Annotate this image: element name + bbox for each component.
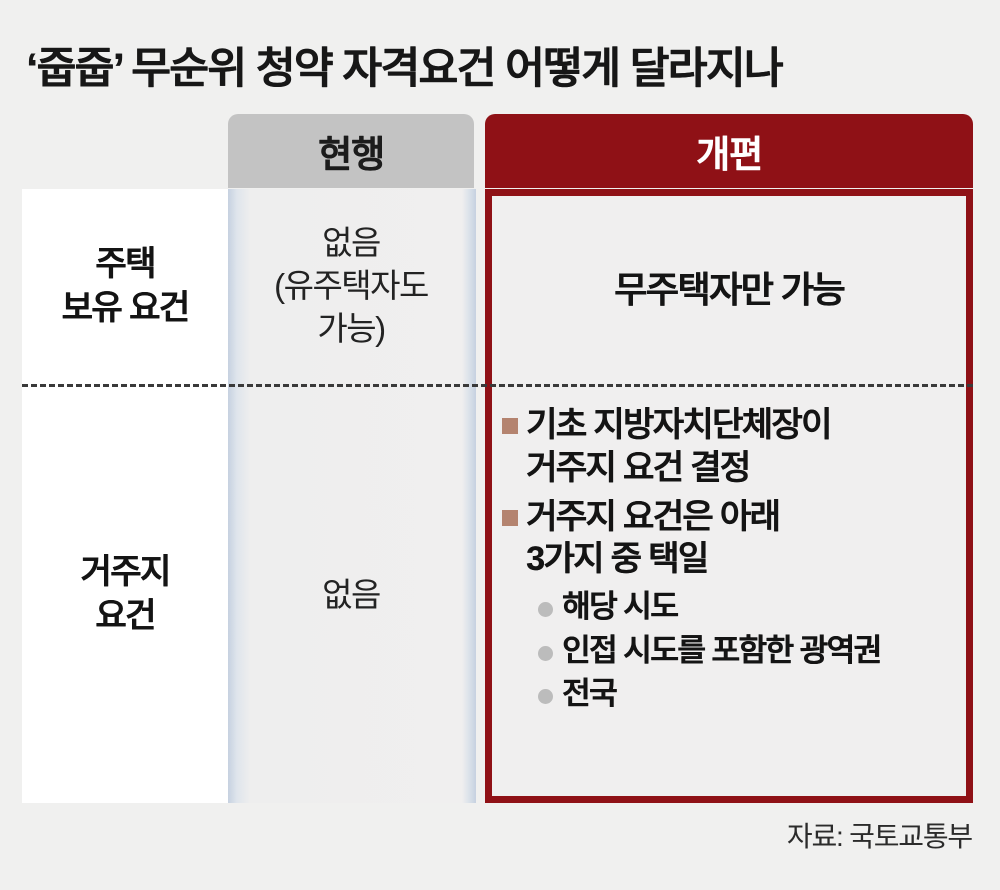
- reform-sub-bullet-list: 해당 시도 인접 시도를 포함한 광역권 전국: [502, 587, 960, 714]
- reform-value-text: 무주택자만 가능: [614, 261, 844, 313]
- square-bullet-icon: [502, 510, 518, 526]
- reform-bullet-line-1: 거주지 요건은 아래: [526, 498, 779, 536]
- column-header-current: 현행: [228, 114, 474, 188]
- reform-sub-bullet-text: 전국: [562, 674, 616, 714]
- current-value-line-1: 없음: [322, 574, 380, 617]
- column-header-reform-label: 개편: [696, 124, 762, 178]
- current-value-line-1: 없음: [322, 222, 380, 265]
- row-label-line-1: 주택: [95, 243, 155, 287]
- reform-sub-bullet-item: 전국: [538, 674, 960, 714]
- reform-bullet-line-2: 3가지 중 택일: [526, 540, 707, 578]
- row-label-housing-ownership: 주택 보유 요건: [22, 189, 228, 384]
- current-value-residency: 없음: [228, 387, 474, 803]
- reform-bullet-item: 거주지 요건은 아래 3가지 중 택일: [502, 496, 960, 582]
- row-label-line-2: 보유 요건: [61, 287, 188, 331]
- current-value-line-3: 가능): [317, 308, 384, 351]
- reform-sub-bullet-item: 인접 시도를 포함한 광역권: [538, 631, 960, 671]
- round-bullet-icon: [538, 646, 553, 661]
- current-value-housing-ownership: 없음 (유주택자도 가능): [228, 189, 474, 384]
- reform-sub-bullet-text: 인접 시도를 포함한 광역권: [562, 631, 881, 671]
- column-header-current-label: 현행: [318, 124, 384, 178]
- reform-sub-bullet-text: 해당 시도: [562, 587, 677, 627]
- row-label-line-2: 요건: [95, 595, 155, 639]
- reform-value-residency: 기초 지방자치단체장이 거주지 요건 결정 거주지 요건은 아래 3가지 중 택…: [492, 390, 966, 800]
- reform-bullet-line-2: 거주지 요건 결정: [526, 449, 749, 487]
- reform-bullet-text: 기초 지방자치단체장이 거주지 요건 결정: [526, 404, 831, 490]
- square-bullet-icon: [502, 418, 518, 434]
- reform-bullet-item: 기초 지방자치단체장이 거주지 요건 결정: [502, 404, 960, 490]
- round-bullet-icon: [538, 689, 553, 704]
- row-label-residency: 거주지 요건: [22, 387, 228, 803]
- source-note: 자료: 국토교통부: [787, 815, 972, 855]
- current-value-line-2: (유주택자도: [274, 265, 428, 308]
- row-label-line-1: 거주지: [80, 551, 169, 595]
- reform-bullet-line-1: 기초 지방자치단체장이: [526, 406, 831, 444]
- reform-sub-bullet-item: 해당 시도: [538, 587, 960, 627]
- column-header-reform: 개편: [485, 114, 973, 188]
- round-bullet-icon: [538, 602, 553, 617]
- reform-bullet-text: 거주지 요건은 아래 3가지 중 택일: [526, 496, 779, 582]
- reform-value-housing-ownership: 무주택자만 가능: [492, 189, 966, 384]
- page-title: ‘줍줍’ 무순위 청약 자격요건 어떻게 달라지나: [26, 34, 976, 96]
